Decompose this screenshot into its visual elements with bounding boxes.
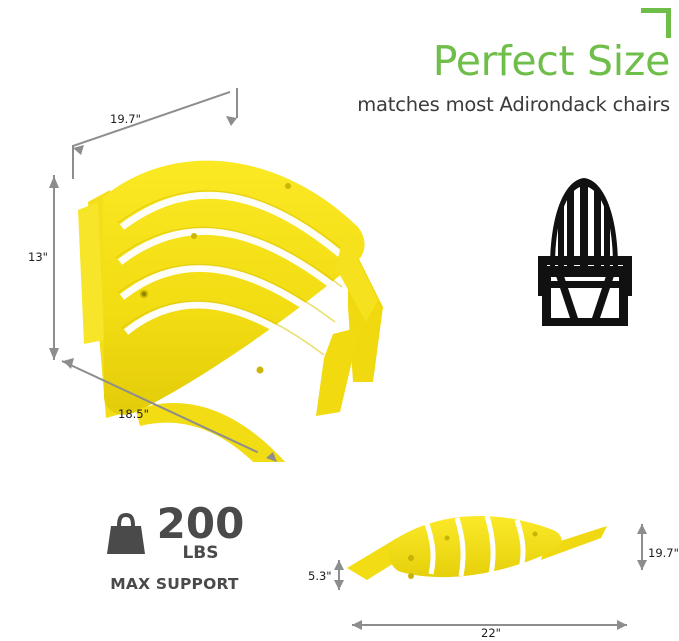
dim-label-folded-length: 22"	[481, 626, 501, 640]
product-image-main	[48, 82, 393, 462]
max-support-caption: MAX SUPPORT	[72, 575, 277, 593]
dim-tick-top-left	[72, 145, 74, 179]
corner-bracket-icon	[641, 8, 671, 38]
weight-block-icon	[105, 512, 147, 556]
dim-label-folded-height: 5.3"	[308, 569, 332, 583]
dim-line-folded-left	[338, 560, 340, 590]
max-support-block: 200 LBS MAX SUPPORT	[72, 505, 277, 593]
page-title: Perfect Size	[320, 38, 670, 84]
dim-label-width-top: 19.7"	[110, 112, 141, 126]
product-infographic: Perfect Size matches most Adirondack cha…	[0, 0, 679, 641]
dim-line-folded-right	[641, 524, 643, 570]
max-support-value: 200	[157, 505, 245, 543]
dim-line-left	[53, 175, 55, 360]
dim-label-folded-width: 19.7"	[648, 546, 679, 560]
product-image-folded	[345, 498, 615, 613]
dim-label-depth-bottom: 18.5"	[118, 407, 149, 421]
dim-tick-top-right	[236, 88, 238, 118]
dim-label-height-left: 13"	[28, 250, 48, 264]
adirondack-chair-icon	[520, 168, 650, 343]
